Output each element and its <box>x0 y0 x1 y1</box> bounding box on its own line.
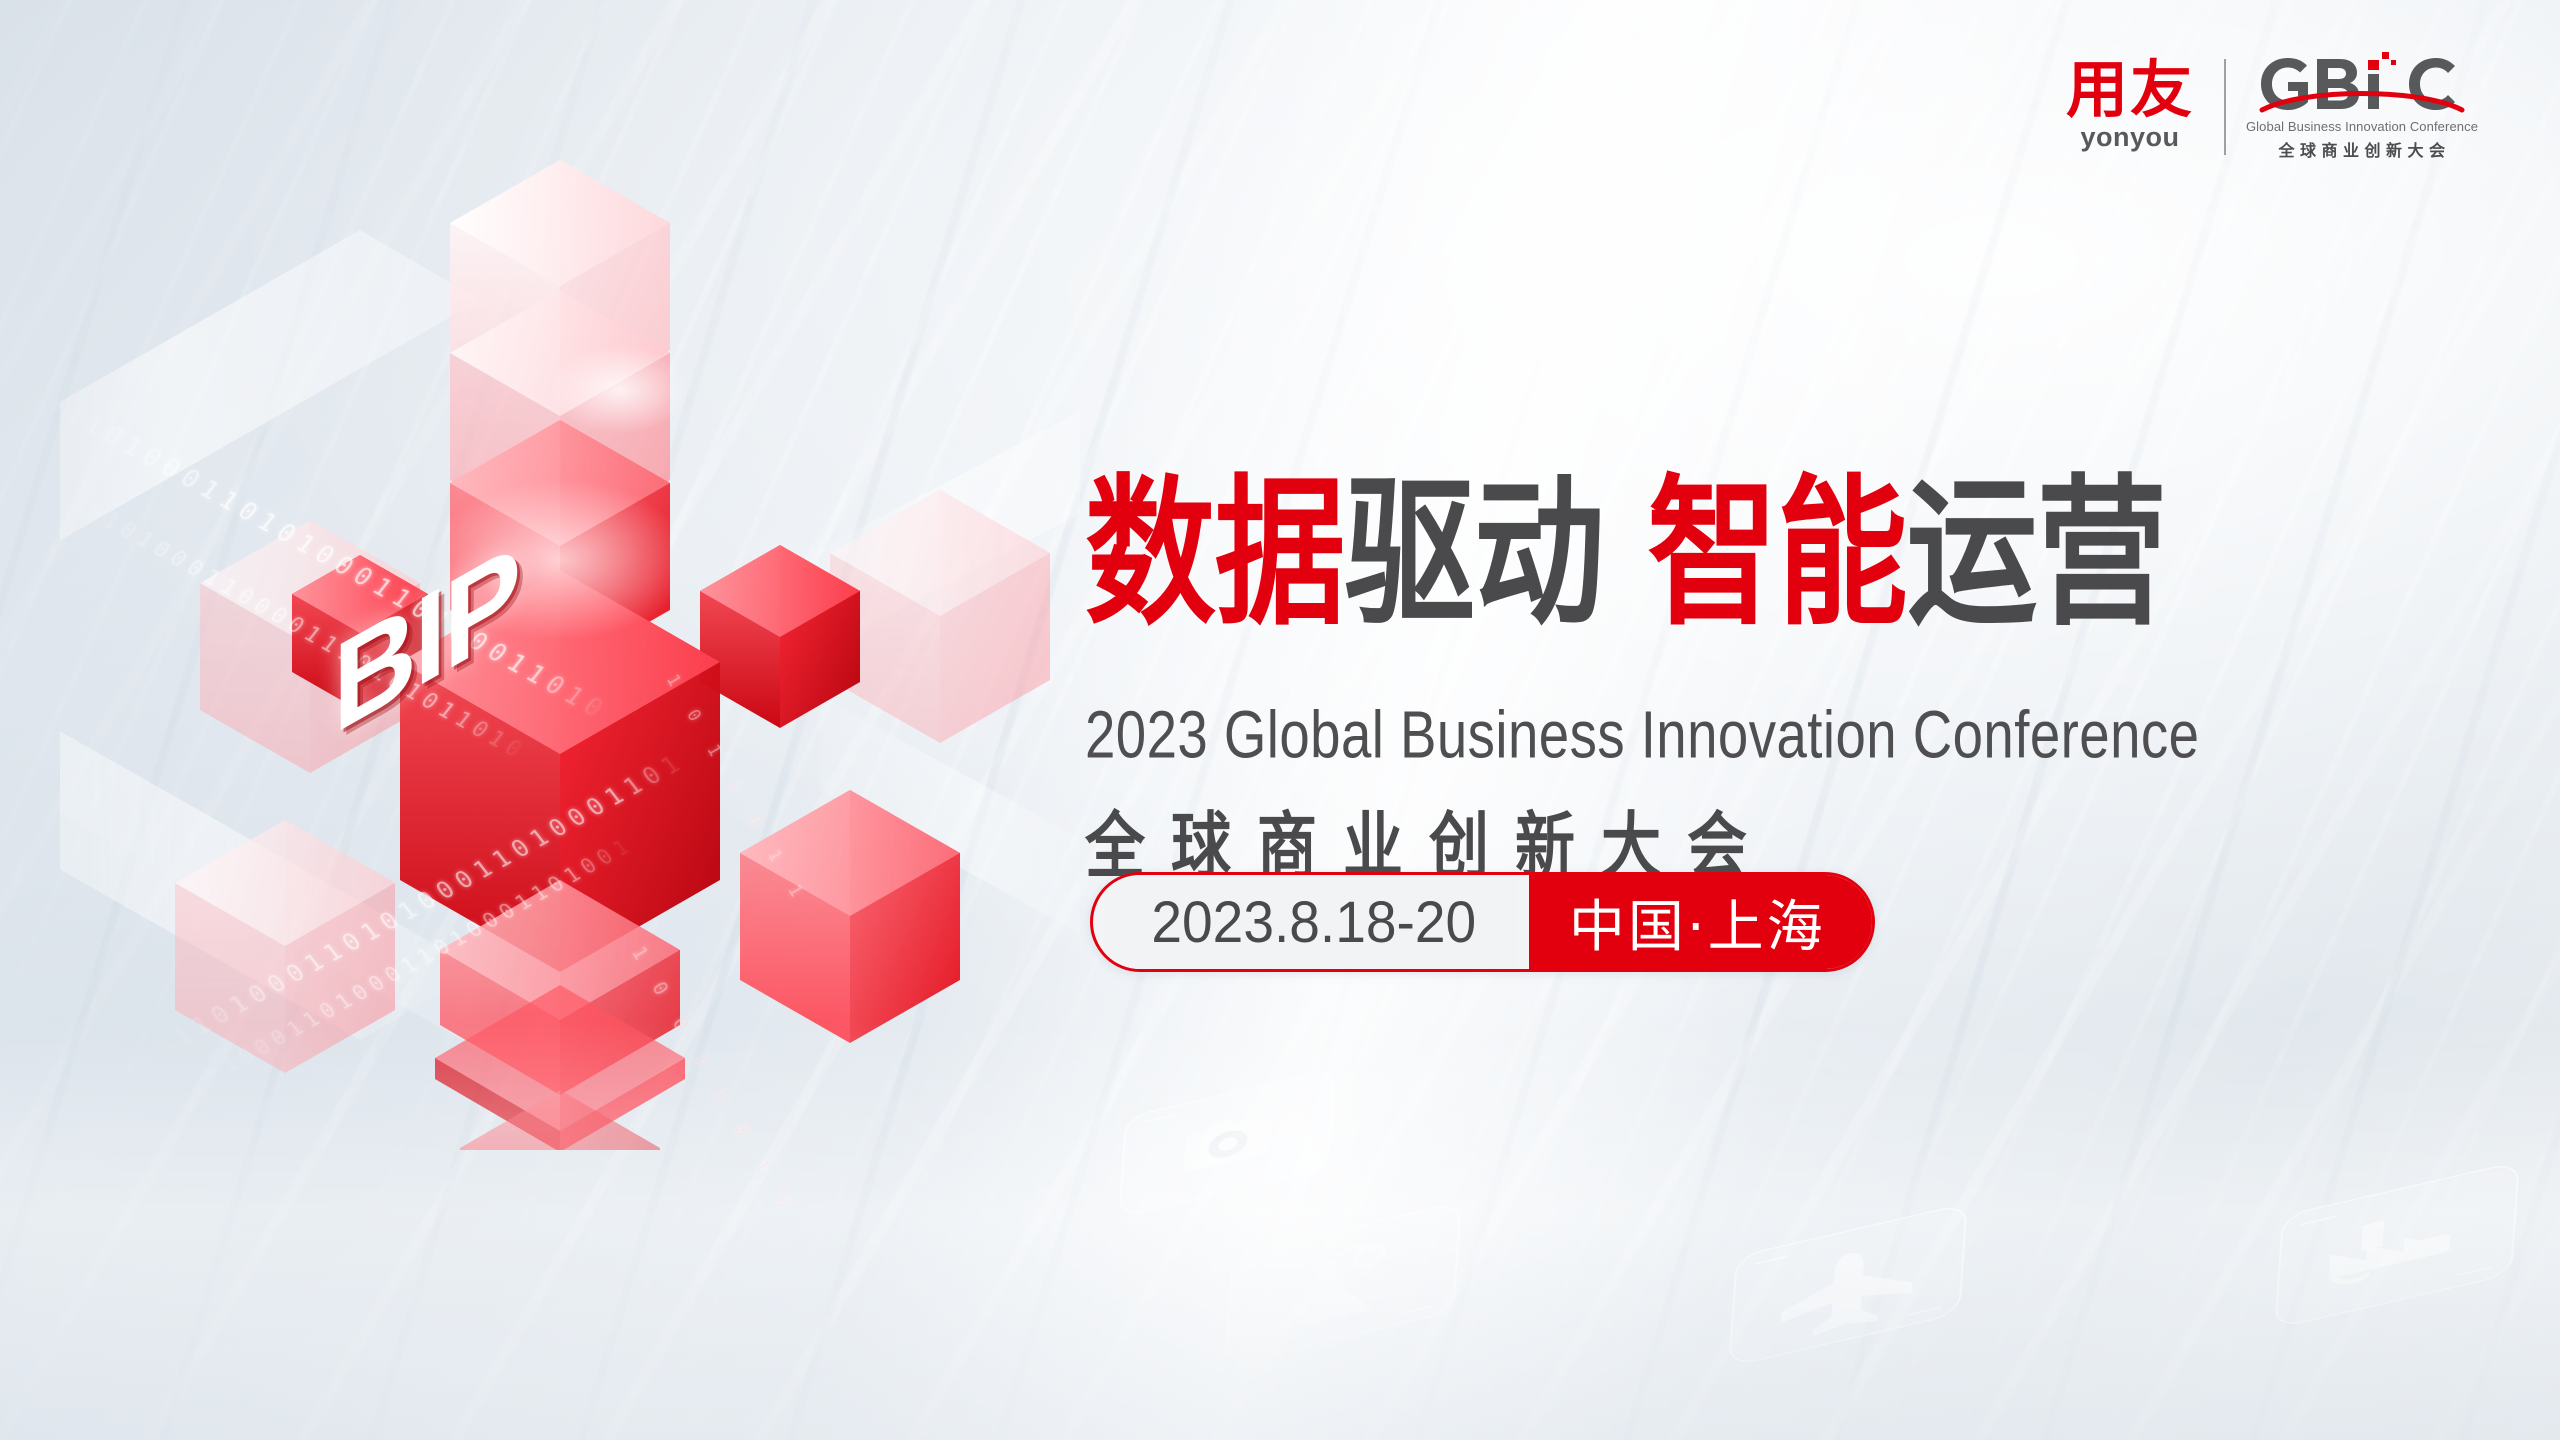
binary-stream-nw-2: 1001010001100001110101011010 <box>47 480 532 765</box>
subtitle-english: 2023 Global Business Innovation Conferen… <box>1085 696 2356 773</box>
headline-part-3: 智能 <box>1647 460 1906 648</box>
headline-part-1: 数据 <box>1085 460 1344 648</box>
chemistry-flask-icon <box>1217 1195 1469 1372</box>
binary-stream-core-2: 1 0 1 0 0 1 1 <box>662 671 811 909</box>
cube-bottom-tip <box>460 1090 660 1150</box>
hero-text-block: 数据驱动智能运营 2023 Global Business Innovation… <box>1085 470 2505 875</box>
yonyou-logo[interactable]: 用友 yonyou <box>2066 60 2194 154</box>
conference-banner: 01101000110101000110100011010 1001010001… <box>0 0 2560 1440</box>
event-city: 中国·上海 <box>1529 875 1872 969</box>
cube-arm-west-core <box>292 555 428 711</box>
gbic-logo[interactable]: Global Business Innovation Conference 全球… <box>2256 52 2468 161</box>
cube-core-center <box>400 570 720 972</box>
radiating-beam-se <box>820 696 1080 956</box>
cube-arm-east-core <box>700 545 860 728</box>
cube-slab-bottom <box>435 985 685 1150</box>
floor-reflection-sheen <box>0 1020 2560 1440</box>
cube-arm-west-outer <box>200 520 420 773</box>
cube-arm-southeast <box>740 790 960 1043</box>
radiating-beam-nw <box>60 230 480 650</box>
page-title: 数据驱动智能运营 <box>1085 470 2491 641</box>
media-camera-icon <box>1111 1062 1343 1224</box>
airplane-icon <box>1721 1197 1975 1374</box>
gbic-mark <box>2256 52 2468 118</box>
logo-divider <box>2224 59 2226 155</box>
cube-below-core <box>440 880 680 1095</box>
cube-top-1 <box>450 160 670 413</box>
bip-wordmark: BIP <box>333 516 518 764</box>
logo-lockup: 用友 yonyou <box>2066 52 2468 161</box>
yonyou-en-wordmark: yonyou <box>2080 122 2179 153</box>
gbic-cn-tagline: 全球商业创新大会 <box>2273 137 2450 161</box>
headline-part-2: 驱动 <box>1344 460 1603 648</box>
factory-icon <box>2267 1155 2527 1336</box>
headline-part-4: 运营 <box>1907 460 2166 648</box>
binary-stream-sw-2: 101000110100011010001101001 <box>184 832 639 1095</box>
snowflake-cube-graphic: 01101000110101000110100011010 1001010001… <box>60 90 1080 1150</box>
radiating-beam-sw <box>60 720 480 1050</box>
binary-stream-sw-1: 0110100011010100011010001101 <box>149 747 692 1061</box>
radiating-beam-e <box>800 390 1080 662</box>
core-specular-glow <box>430 480 690 640</box>
date-location-pill[interactable]: 2023.8.18-20 中国·上海 <box>1090 872 1875 972</box>
binary-stream-core-1: 1 0 0 1 1 0 1 0 <box>627 943 799 1220</box>
event-date: 2023.8.18-20 <box>1104 875 1518 969</box>
upper-specular-glow <box>550 346 690 434</box>
yonyou-cn-wordmark: 用友 <box>2066 60 2194 120</box>
gbic-en-tagline: Global Business Innovation Conference <box>2246 119 2478 134</box>
cube-top-3 <box>450 420 670 673</box>
cube-arm-east-outer <box>830 490 1050 743</box>
binary-stream-nw-1: 01101000110101000110100011010 <box>40 388 615 726</box>
red-pixel-dots <box>2368 52 2396 70</box>
cube-top-2 <box>450 290 670 543</box>
cube-arm-southwest <box>175 820 395 1073</box>
